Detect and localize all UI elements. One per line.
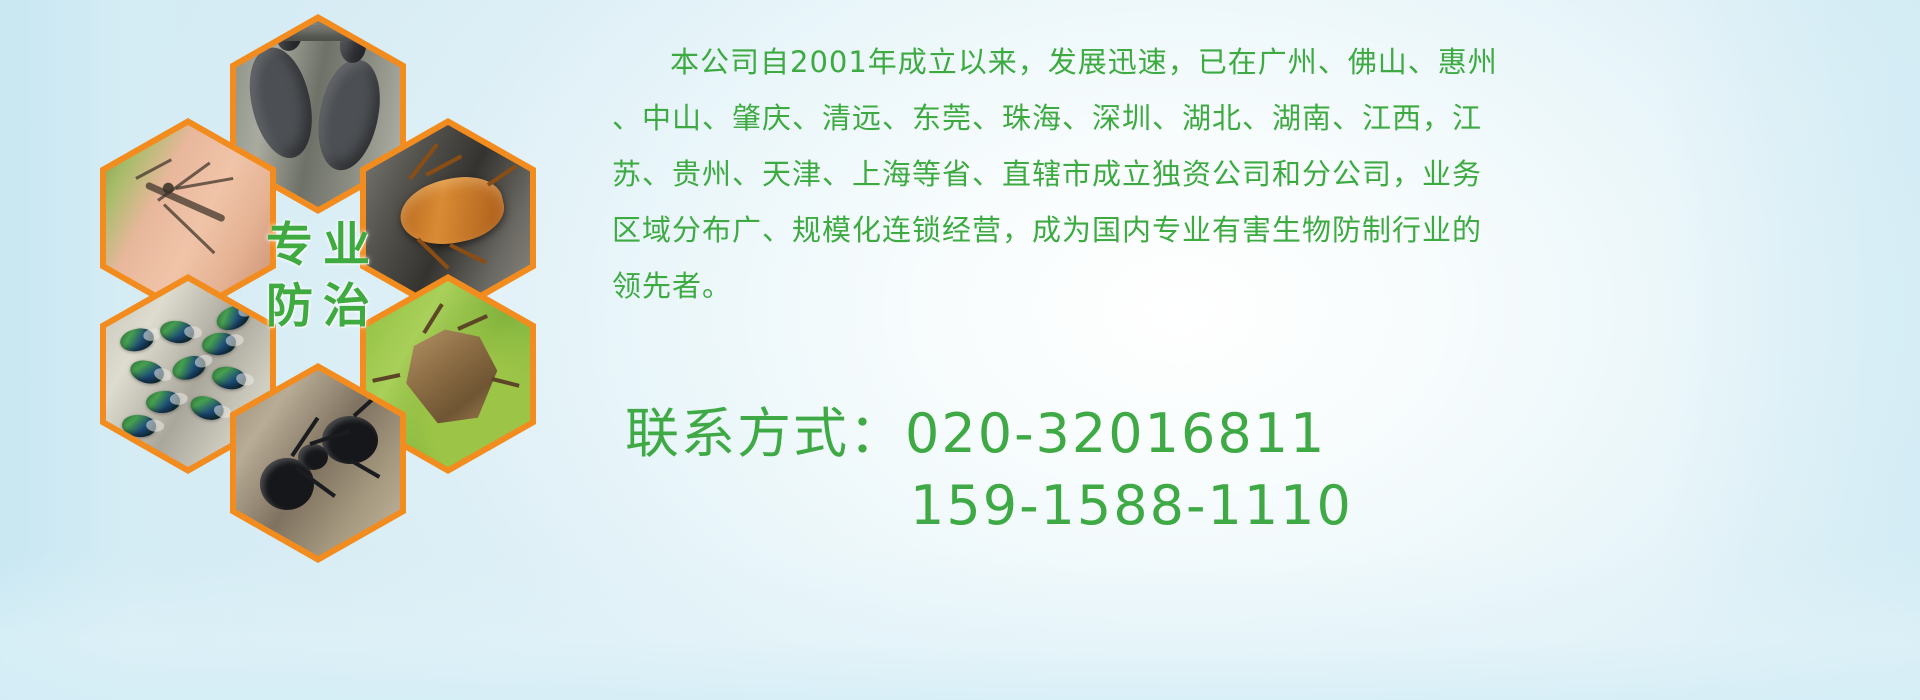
contact-block: 联系方式：020-32016811 159-1588-1110 [625,398,1353,542]
promo-banner: 专业 防治 本公司自2001年成立以来，发展迅速，已在广州、佛山、惠州 、中山、… [0,0,1920,700]
hex-label-line-2: 防治 [256,283,380,330]
about-line-1-text: 本公司自2001年成立以来，发展迅速，已在广州、佛山、惠州 [670,45,1498,79]
contact-line-primary[interactable]: 联系方式：020-32016811 [625,398,1353,470]
about-line-5: 领先者。 [612,258,1912,314]
about-line-3: 苏、贵州、天津、上海等省、直辖市成立独资公司和分公司，业务 [612,146,1912,202]
hexagon-photo-cluster: 专业 防治 [80,8,600,568]
about-line-1: 本公司自2001年成立以来，发展迅速，已在广州、佛山、惠州 [612,34,1912,90]
about-line-4: 区域分布广、规模化连锁经营，成为国内专业有害生物防制行业的 [612,202,1912,258]
contact-line-secondary[interactable]: 159-1588-1110 [625,470,1353,542]
about-line-2: 、中山、肇庆、清远、东莞、珠海、深圳、湖北、湖南、江西，江 [612,90,1912,146]
ant-photo [236,370,400,556]
about-company-block: 本公司自2001年成立以来，发展迅速，已在广州、佛山、惠州 、中山、肇庆、清远、… [612,34,1912,314]
